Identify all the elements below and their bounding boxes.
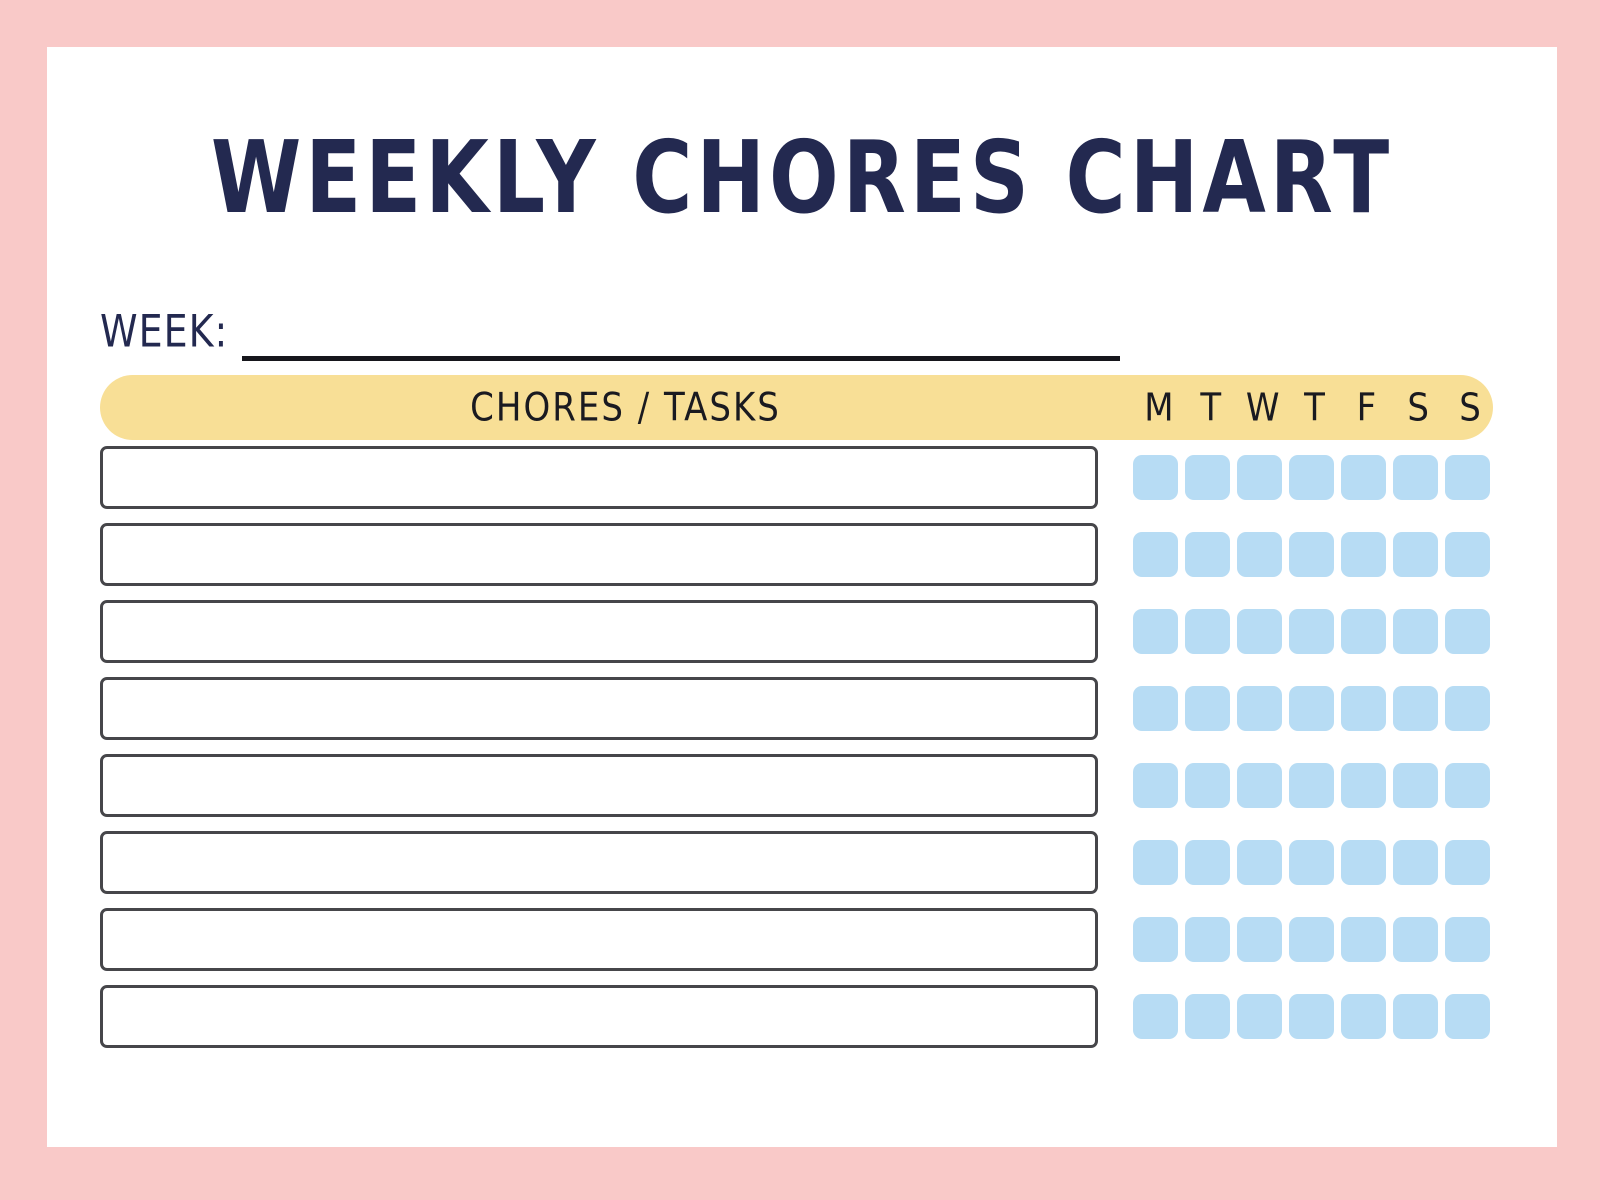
day-header-sunday: S [1447,388,1493,426]
checkbox-tuesday[interactable] [1185,917,1230,962]
checkbox-group [1133,532,1490,577]
checkbox-monday[interactable] [1133,917,1178,962]
checkbox-group [1133,686,1490,731]
checkbox-sunday[interactable] [1445,917,1490,962]
checkbox-tuesday[interactable] [1185,840,1230,885]
chore-row [100,446,1500,509]
week-input-line[interactable] [242,356,1120,361]
checkbox-tuesday[interactable] [1185,994,1230,1039]
chart-sheet: WEEKLY CHORES CHART WEEK: CHORES / TASKS… [47,47,1557,1147]
checkbox-friday[interactable] [1341,455,1386,500]
task-input[interactable] [100,600,1098,663]
checkbox-sunday[interactable] [1445,994,1490,1039]
chores-chart-page: WEEKLY CHORES CHART WEEK: CHORES / TASKS… [0,0,1600,1200]
checkbox-tuesday[interactable] [1185,686,1230,731]
checkbox-saturday[interactable] [1393,532,1438,577]
checkbox-thursday[interactable] [1289,686,1334,731]
task-input[interactable] [100,908,1098,971]
task-input[interactable] [100,754,1098,817]
page-title: WEEKLY CHORES CHART [47,129,1557,229]
checkbox-group [1133,609,1490,654]
checkbox-wednesday[interactable] [1237,686,1282,731]
checkbox-saturday[interactable] [1393,917,1438,962]
week-field-row: WEEK: [100,299,1120,363]
checkbox-monday[interactable] [1133,994,1178,1039]
checkbox-group [1133,840,1490,885]
checkbox-thursday[interactable] [1289,994,1334,1039]
day-header-thursday: T [1292,388,1338,426]
checkbox-thursday[interactable] [1289,763,1334,808]
day-header-wednesday: W [1240,388,1286,426]
task-input[interactable] [100,523,1098,586]
task-input[interactable] [100,831,1098,894]
task-input[interactable] [100,446,1098,509]
checkbox-tuesday[interactable] [1185,609,1230,654]
checkbox-sunday[interactable] [1445,763,1490,808]
checkbox-friday[interactable] [1341,840,1386,885]
checkbox-thursday[interactable] [1289,532,1334,577]
checkbox-monday[interactable] [1133,840,1178,885]
checkbox-sunday[interactable] [1445,840,1490,885]
checkbox-wednesday[interactable] [1237,840,1282,885]
chore-row [100,831,1500,894]
checkbox-group [1133,917,1490,962]
checkbox-thursday[interactable] [1289,609,1334,654]
column-headers-days: M T W T F S S [1136,375,1493,440]
checkbox-sunday[interactable] [1445,532,1490,577]
table-header-bar: CHORES / TASKS M T W T F S S [100,375,1493,440]
chore-row [100,985,1500,1048]
task-input[interactable] [100,677,1098,740]
day-header-monday: M [1136,388,1182,426]
checkbox-monday[interactable] [1133,686,1178,731]
checkbox-wednesday[interactable] [1237,455,1282,500]
checkbox-saturday[interactable] [1393,840,1438,885]
checkbox-wednesday[interactable] [1237,609,1282,654]
checkbox-friday[interactable] [1341,532,1386,577]
chore-row [100,677,1500,740]
checkbox-friday[interactable] [1341,763,1386,808]
day-header-tuesday: T [1188,388,1234,426]
checkbox-saturday[interactable] [1393,609,1438,654]
checkbox-tuesday[interactable] [1185,532,1230,577]
checkbox-friday[interactable] [1341,609,1386,654]
column-header-chores-tasks: CHORES / TASKS [100,370,1151,445]
checkbox-sunday[interactable] [1445,455,1490,500]
checkbox-friday[interactable] [1341,994,1386,1039]
week-label: WEEK: [100,309,228,363]
checkbox-sunday[interactable] [1445,686,1490,731]
checkbox-monday[interactable] [1133,455,1178,500]
checkbox-sunday[interactable] [1445,609,1490,654]
checkbox-monday[interactable] [1133,609,1178,654]
chore-rows-list [100,446,1500,1048]
day-header-saturday: S [1395,388,1441,426]
checkbox-saturday[interactable] [1393,763,1438,808]
checkbox-saturday[interactable] [1393,994,1438,1039]
checkbox-tuesday[interactable] [1185,455,1230,500]
chore-row [100,600,1500,663]
task-input[interactable] [100,985,1098,1048]
checkbox-wednesday[interactable] [1237,994,1282,1039]
checkbox-friday[interactable] [1341,686,1386,731]
chore-row [100,754,1500,817]
checkbox-saturday[interactable] [1393,455,1438,500]
checkbox-tuesday[interactable] [1185,763,1230,808]
checkbox-saturday[interactable] [1393,686,1438,731]
checkbox-thursday[interactable] [1289,917,1334,962]
checkbox-thursday[interactable] [1289,840,1334,885]
chore-row [100,523,1500,586]
checkbox-wednesday[interactable] [1237,917,1282,962]
checkbox-group [1133,455,1490,500]
checkbox-thursday[interactable] [1289,455,1334,500]
day-header-friday: F [1343,388,1389,426]
checkbox-monday[interactable] [1133,532,1178,577]
chore-row [100,908,1500,971]
checkbox-wednesday[interactable] [1237,763,1282,808]
checkbox-wednesday[interactable] [1237,532,1282,577]
checkbox-friday[interactable] [1341,917,1386,962]
checkbox-group [1133,994,1490,1039]
checkbox-monday[interactable] [1133,763,1178,808]
checkbox-group [1133,763,1490,808]
